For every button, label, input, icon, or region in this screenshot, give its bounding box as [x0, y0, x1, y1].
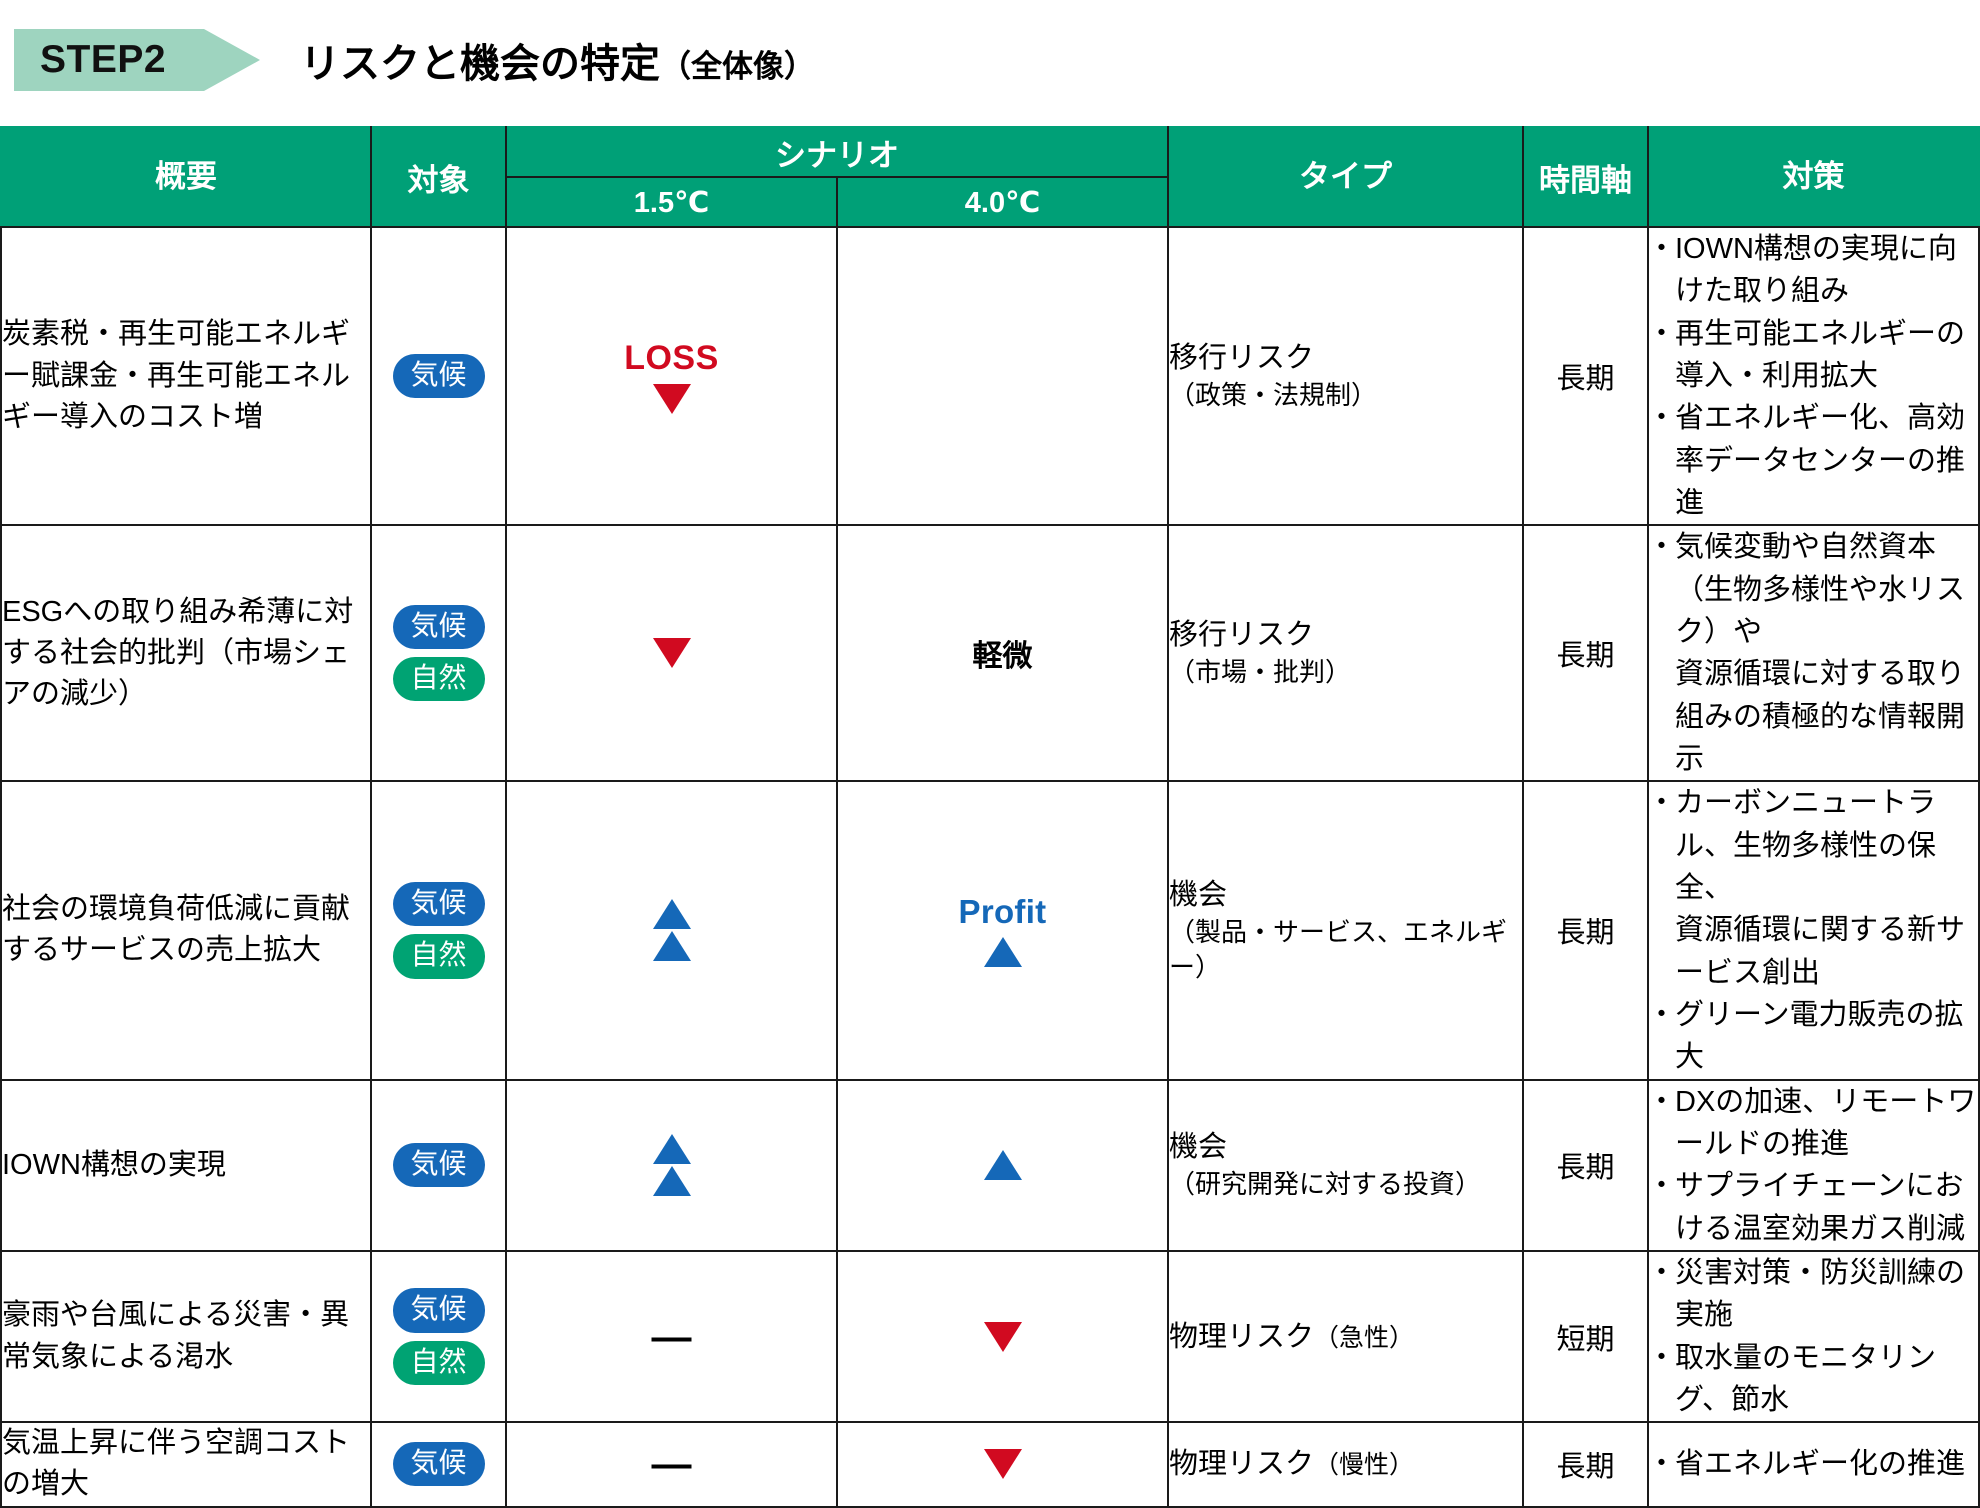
cell-overview: ESGへの取り組み希薄に対する社会的批判（市場シェアの減少）	[1, 525, 371, 781]
type-main: 移行リスク	[1169, 615, 1522, 655]
col-header-measures: 対策	[1648, 127, 1979, 227]
cell-timeframe: 長期	[1523, 227, 1648, 525]
cell-target: 気候自然	[371, 525, 506, 781]
measure-list: 省エネルギー化の推進	[1649, 1443, 1978, 1485]
cell-scenario-1-5: —	[506, 1422, 837, 1506]
cell-type: 移行リスク（政策・法規制）	[1168, 227, 1523, 525]
table-row: 社会の環境負荷低減に貢献するサービスの売上拡大気候自然Profit機会（製品・サ…	[1, 781, 1979, 1079]
badge-climate: 気候	[393, 605, 485, 649]
measure-item: 取水量のモニタリング、節水	[1649, 1337, 1978, 1422]
cell-measures: カーボンニュートラル、生物多様性の保全、資源循環に関する新サービス創出グリーン電…	[1648, 781, 1979, 1079]
col-header-timeframe: 時間軸	[1523, 127, 1648, 227]
cell-type: 物理リスク（急性）	[1168, 1251, 1523, 1422]
cell-measures: 省エネルギー化の推進	[1648, 1422, 1979, 1506]
cell-scenario-1-5	[506, 1080, 837, 1251]
cell-measures: IOWN構想の実現に向けた取り組み再生可能エネルギーの導入・利用拡大省エネルギー…	[1648, 227, 1979, 525]
measure-continuation: 資源循環に対する取り組みの積極的な情報開示	[1649, 653, 1978, 780]
type-main: 機会	[1169, 1127, 1522, 1167]
page-header: STEP2 リスクと機会の特定（全体像）	[0, 0, 1980, 120]
scenario-word: Profit	[959, 893, 1047, 931]
cell-scenario-4-0	[837, 1422, 1168, 1506]
header-row-top: 概要 対象 シナリオ タイプ 時間軸 対策	[1, 127, 1979, 177]
measure-item: サプライチェーンにおける温室効果ガス削減	[1649, 1165, 1978, 1250]
type-main: 物理リスク（慢性）	[1169, 1444, 1522, 1484]
cell-type: 機会（研究開発に対する投資）	[1168, 1080, 1523, 1251]
type-qualifier: （研究開発に対する投資）	[1169, 1167, 1522, 1203]
type-qualifier: （市場・批判）	[1169, 655, 1522, 691]
type-main: 移行リスク	[1169, 338, 1522, 378]
badge-climate: 気候	[393, 1143, 485, 1187]
cell-measures: DXの加速、リモートワールドの推進サプライチェーンにおける温室効果ガス削減	[1648, 1080, 1979, 1251]
cell-scenario-4-0	[837, 1251, 1168, 1422]
cell-scenario-4-0	[837, 227, 1168, 525]
dash-mark: —	[652, 1323, 692, 1351]
col-header-type: タイプ	[1168, 127, 1523, 227]
cell-scenario-1-5: —	[506, 1251, 837, 1422]
measure-item: IOWN構想の実現に向けた取り組み	[1649, 228, 1978, 313]
triangle-up-icon	[984, 1150, 1022, 1180]
type-qualifier: （製品・サービス、エネルギー）	[1169, 915, 1522, 987]
cell-target: 気候	[371, 1422, 506, 1506]
measure-list: IOWN構想の実現に向けた取り組み再生可能エネルギーの導入・利用拡大省エネルギー…	[1649, 228, 1978, 524]
measure-item: 再生可能エネルギーの導入・利用拡大	[1649, 313, 1978, 398]
type-qualifier: （慢性）	[1314, 1451, 1414, 1479]
triangle-down-icon	[653, 384, 691, 414]
dash-mark: —	[652, 1450, 692, 1478]
triangle-up-icon	[653, 931, 691, 961]
badge-nature: 自然	[393, 934, 485, 978]
cell-measures: 災害対策・防災訓練の実施取水量のモニタリング、節水	[1648, 1251, 1979, 1422]
cell-overview: IOWN構想の実現	[1, 1080, 371, 1251]
triangle-up-icon	[653, 899, 691, 929]
scenario-word: LOSS	[624, 339, 719, 378]
cell-target: 気候自然	[371, 1251, 506, 1422]
col-header-overview: 概要	[1, 127, 371, 227]
badge-climate: 気候	[393, 882, 485, 926]
type-qualifier: （急性）	[1314, 1324, 1414, 1352]
cell-timeframe: 長期	[1523, 781, 1648, 1079]
cell-scenario-4-0: 軽微	[837, 525, 1168, 781]
triangle-up-icon	[653, 1166, 691, 1196]
col-header-scenario-1-5: 1.5℃	[506, 177, 837, 227]
table-row: 炭素税・再生可能エネルギー賦課金・再生可能エネルギー導入のコスト増気候LOSS移…	[1, 227, 1979, 525]
badge-nature: 自然	[393, 1341, 485, 1385]
triangle-down-icon	[653, 638, 691, 668]
col-header-scenario: シナリオ	[506, 127, 1168, 177]
table-row: 豪雨や台風による災害・異常気象による渇水気候自然—物理リスク（急性）短期災害対策…	[1, 1251, 1979, 1422]
col-header-scenario-4-0: 4.0℃	[837, 177, 1168, 227]
table-body: 炭素税・再生可能エネルギー賦課金・再生可能エネルギー導入のコスト増気候LOSS移…	[1, 227, 1979, 1507]
step-chip-label: STEP2	[40, 38, 166, 82]
badge-climate: 気候	[393, 354, 485, 398]
scenario-word: 軽微	[973, 631, 1033, 675]
measure-list: DXの加速、リモートワールドの推進サプライチェーンにおける温室効果ガス削減	[1649, 1081, 1978, 1250]
measure-item: 省エネルギー化の推進	[1649, 1443, 1978, 1485]
cell-scenario-4-0	[837, 1080, 1168, 1251]
cell-scenario-1-5	[506, 781, 837, 1079]
table-row: 気温上昇に伴う空調コストの増大気候—物理リスク（慢性）長期省エネルギー化の推進	[1, 1422, 1979, 1506]
measure-list: 気候変動や自然資本（生物多様性や水リスク）や資源循環に対する取り組みの積極的な情…	[1649, 526, 1978, 780]
cell-timeframe: 長期	[1523, 1080, 1648, 1251]
badge-climate: 気候	[393, 1442, 485, 1486]
cell-timeframe: 短期	[1523, 1251, 1648, 1422]
type-main: 物理リスク（急性）	[1169, 1317, 1522, 1357]
cell-target: 気候	[371, 227, 506, 525]
badge-nature: 自然	[393, 657, 485, 701]
measure-item: カーボンニュートラル、生物多様性の保全、	[1649, 782, 1978, 909]
cell-type: 物理リスク（慢性）	[1168, 1422, 1523, 1506]
page-title-main: リスクと機会の特定	[300, 42, 660, 86]
cell-timeframe: 長期	[1523, 525, 1648, 781]
badge-climate: 気候	[393, 1288, 485, 1332]
cell-scenario-4-0: Profit	[837, 781, 1168, 1079]
cell-scenario-1-5: LOSS	[506, 227, 837, 525]
triangle-up-icon	[653, 1134, 691, 1164]
page-title: リスクと機会の特定（全体像）	[300, 31, 815, 89]
cell-overview: 気温上昇に伴う空調コストの増大	[1, 1422, 371, 1506]
triangle-down-icon	[984, 1322, 1022, 1352]
risk-opportunity-table: 概要 対象 シナリオ タイプ 時間軸 対策 1.5℃ 4.0℃ 炭素税・再生可能…	[0, 126, 1980, 1508]
triangle-up-icon	[984, 937, 1022, 967]
cell-overview: 豪雨や台風による災害・異常気象による渇水	[1, 1251, 371, 1422]
measure-item: 気候変動や自然資本（生物多様性や水リスク）や	[1649, 526, 1978, 653]
cell-overview: 炭素税・再生可能エネルギー賦課金・再生可能エネルギー導入のコスト増	[1, 227, 371, 525]
cell-type: 移行リスク（市場・批判）	[1168, 525, 1523, 781]
measure-item: DXの加速、リモートワールドの推進	[1649, 1081, 1978, 1166]
measure-item: 災害対策・防災訓練の実施	[1649, 1252, 1978, 1337]
col-header-target: 対象	[371, 127, 506, 227]
cell-overview: 社会の環境負荷低減に貢献するサービスの売上拡大	[1, 781, 371, 1079]
cell-timeframe: 長期	[1523, 1422, 1648, 1506]
cell-target: 気候	[371, 1080, 506, 1251]
cell-type: 機会（製品・サービス、エネルギー）	[1168, 781, 1523, 1079]
measure-continuation: 資源循環に関する新サービス創出	[1649, 909, 1978, 994]
cell-measures: 気候変動や自然資本（生物多様性や水リスク）や資源循環に対する取り組みの積極的な情…	[1648, 525, 1979, 781]
measure-list: 災害対策・防災訓練の実施取水量のモニタリング、節水	[1649, 1252, 1978, 1421]
measure-list: カーボンニュートラル、生物多様性の保全、資源循環に関する新サービス創出グリーン電…	[1649, 782, 1978, 1078]
type-qualifier: （政策・法規制）	[1169, 378, 1522, 414]
type-main: 機会	[1169, 875, 1522, 915]
cell-scenario-1-5	[506, 525, 837, 781]
table-row: IOWN構想の実現気候機会（研究開発に対する投資）長期DXの加速、リモートワール…	[1, 1080, 1979, 1251]
measure-item: グリーン電力販売の拡大	[1649, 994, 1978, 1079]
table-head: 概要 対象 シナリオ タイプ 時間軸 対策 1.5℃ 4.0℃	[1, 127, 1979, 227]
measure-item: 省エネルギー化、高効率データセンターの推進	[1649, 397, 1978, 524]
cell-target: 気候自然	[371, 781, 506, 1079]
page-title-sub: （全体像）	[660, 49, 815, 84]
step-chip: STEP2	[14, 29, 204, 91]
table-row: ESGへの取り組み希薄に対する社会的批判（市場シェアの減少）気候自然軽微移行リス…	[1, 525, 1979, 781]
triangle-down-icon	[984, 1449, 1022, 1479]
